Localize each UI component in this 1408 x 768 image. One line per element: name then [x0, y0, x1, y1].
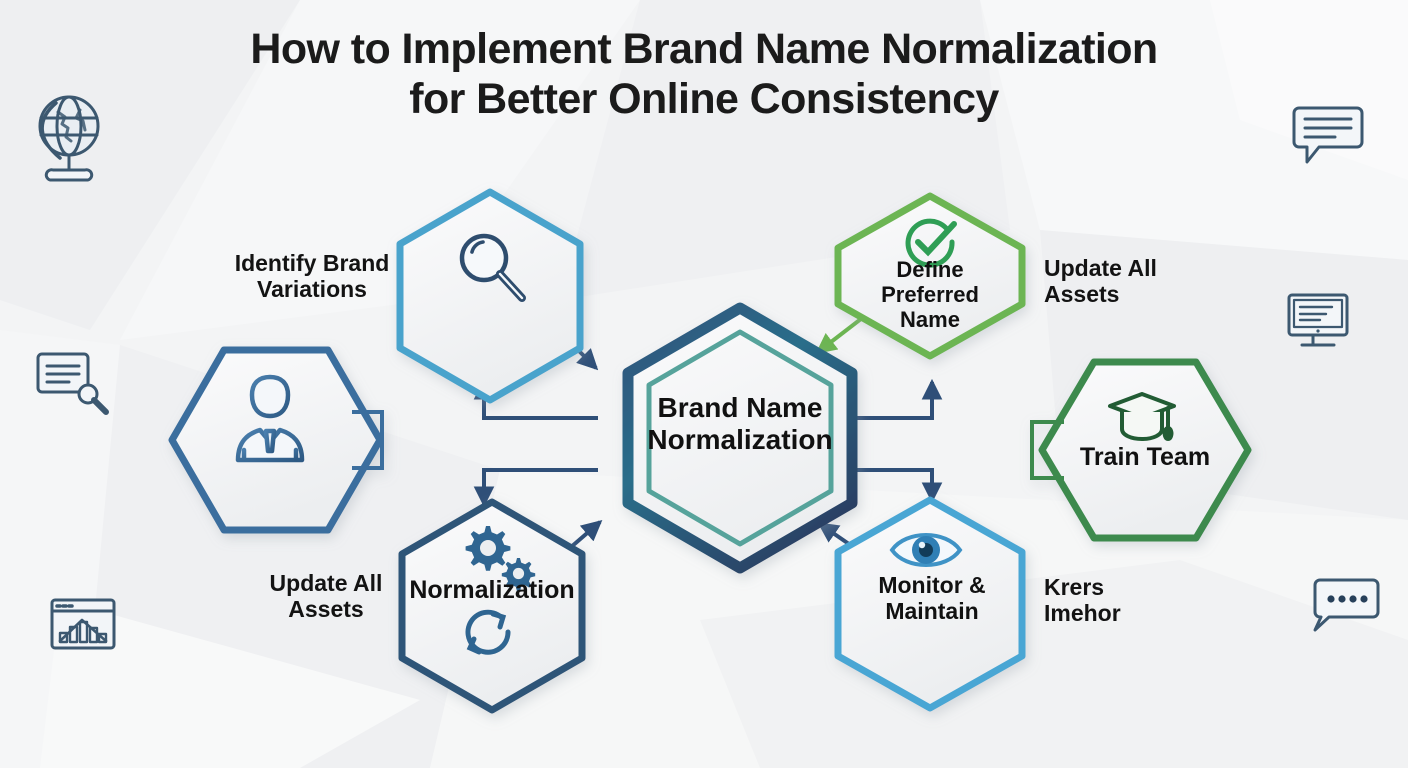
label-line-1: Krers [1044, 574, 1214, 600]
label-line-2: Assets [1044, 281, 1214, 307]
label-update-all-assets-left: Update All Assets [252, 570, 400, 623]
label-line-2: Normalization [604, 424, 876, 456]
page-title: How to Implement Brand Name Normalizatio… [0, 24, 1408, 124]
title-line-2: for Better Online Consistency [0, 74, 1408, 124]
label-line-2: Variations [232, 276, 392, 302]
label-update-all-assets-right: Update All Assets [1044, 255, 1214, 308]
hex-monitor-maintain [838, 500, 1022, 708]
hex-identify-brand-variations [400, 192, 580, 400]
label-line-1: Update All [252, 570, 400, 596]
title-line-1: How to Implement Brand Name Normalizatio… [0, 24, 1408, 74]
hex-train-team [1032, 362, 1248, 538]
label-krers-imehor: Krers Imehor [1044, 574, 1214, 627]
label-line-1: Identify Brand [232, 250, 392, 276]
label-line-1: Update All [1044, 255, 1214, 281]
label-identify-brand-variations: Identify Brand Variations [232, 250, 392, 303]
eye-icon [892, 535, 960, 565]
label-center-brand-name-normalization: Brand Name Normalization [604, 392, 876, 456]
infographic-canvas: How to Implement Brand Name Normalizatio… [0, 0, 1408, 768]
label-line-2: Assets [252, 596, 400, 622]
label-line-1: Brand Name [604, 392, 876, 424]
label-line-2: Imehor [1044, 600, 1214, 626]
